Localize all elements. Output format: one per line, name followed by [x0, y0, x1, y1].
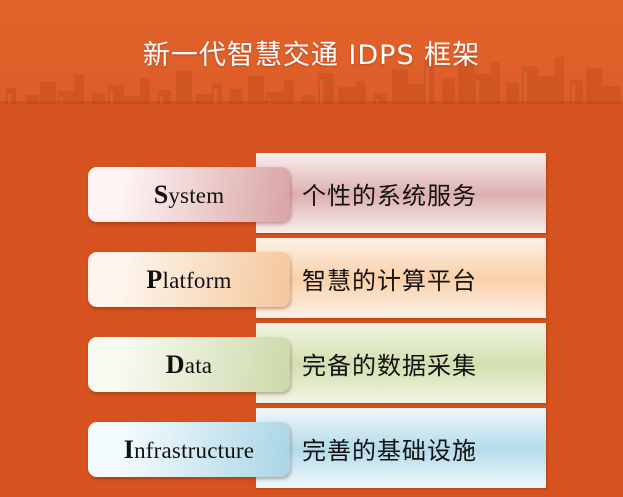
layer-row-infrastructure[interactable]: 完善的基础设施 Infrastructure [0, 408, 623, 488]
layer-label-platform: Platform [146, 265, 231, 295]
layer-row-data[interactable]: 完备的数据采集 Data [0, 323, 623, 403]
layer-description-panel-platform: 智慧的计算平台 [256, 238, 546, 318]
layer-description-infrastructure: 完善的基础设施 [302, 408, 477, 488]
layer-description-panel-infrastructure: 完善的基础设施 [256, 408, 546, 488]
page-title: 新一代智慧交通 IDPS 框架 [0, 0, 623, 104]
layer-label-infrastructure: Infrastructure [124, 435, 254, 465]
layer-description-platform: 智慧的计算平台 [302, 238, 477, 318]
layer-row-system[interactable]: 个性的系统服务 System [0, 153, 623, 233]
layer-initial-platform: P [146, 265, 162, 294]
layer-pill-platform[interactable]: Platform [88, 252, 290, 307]
layer-description-panel-data: 完备的数据采集 [256, 323, 546, 403]
header-band: 新一代智慧交通 IDPS 框架 [0, 0, 623, 104]
layer-initial-infrastructure: I [124, 435, 134, 464]
layer-row-platform[interactable]: 智慧的计算平台 Platform [0, 238, 623, 318]
layer-description-panel-system: 个性的系统服务 [256, 153, 546, 233]
layer-label-rest-data: ata [185, 353, 212, 378]
layer-label-rest-infrastructure: nfrastructure [134, 438, 254, 463]
layer-pill-data[interactable]: Data [88, 337, 290, 392]
layer-initial-data: D [166, 350, 185, 379]
layer-label-rest-system: ystem [168, 183, 224, 208]
layer-description-system: 个性的系统服务 [302, 153, 477, 233]
layer-label-data: Data [166, 350, 212, 380]
layer-pill-infrastructure[interactable]: Infrastructure [88, 422, 290, 477]
layer-stack: 个性的系统服务 System 智慧的计算平台 Platform 完备的数据采集 [0, 104, 623, 497]
layer-description-data: 完备的数据采集 [302, 323, 477, 403]
layer-pill-system[interactable]: System [88, 167, 290, 222]
layer-label-system: System [154, 180, 225, 210]
layer-initial-system: S [154, 180, 169, 209]
slide-canvas: 新一代智慧交通 IDPS 框架 个性的系统服务 System 智慧的计算平台 P… [0, 0, 623, 497]
layer-label-rest-platform: latform [162, 268, 231, 293]
